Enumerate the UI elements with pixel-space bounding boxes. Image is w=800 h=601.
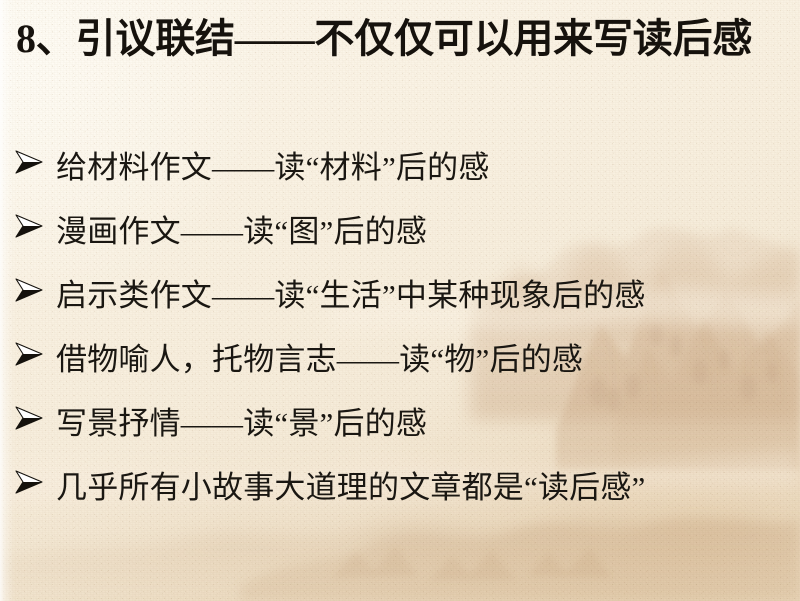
list-item: 启示类作文——读“生活”中某种现象后的感 xyxy=(14,280,800,344)
arrowhead-bullet-icon xyxy=(14,405,56,431)
list-item: 写景抒情——读“景”后的感 xyxy=(14,408,800,472)
list-item-label: 借物喻人，托物言志——读“物”后的感 xyxy=(56,344,800,375)
list-item: 几乎所有小故事大道理的文章都是“读后感” xyxy=(14,472,800,536)
arrowhead-bullet-icon xyxy=(14,341,56,367)
list-item-label: 给材料作文——读“材料”后的感 xyxy=(56,152,800,183)
slide-title: 8、引议联结——不仅仅可以用来写读后感 xyxy=(16,14,792,64)
list-item: 给材料作文——读“材料”后的感 xyxy=(14,152,800,216)
arrowhead-bullet-icon xyxy=(14,469,56,495)
list-item-label: 漫画作文——读“图”后的感 xyxy=(56,216,800,247)
list-item-label: 启示类作文——读“生活”中某种现象后的感 xyxy=(56,280,800,311)
arrowhead-bullet-icon xyxy=(14,277,56,303)
list-item-label: 几乎所有小故事大道理的文章都是“读后感” xyxy=(56,472,800,503)
slide-content: 8、引议联结——不仅仅可以用来写读后感 给材料作文——读“材料”后的感 xyxy=(0,0,800,601)
list-item: 漫画作文——读“图”后的感 xyxy=(14,216,800,280)
arrowhead-bullet-icon xyxy=(14,149,56,175)
bullet-list: 给材料作文——读“材料”后的感 漫画作文——读“图”后的感 xyxy=(14,152,800,536)
arrowhead-bullet-icon xyxy=(14,213,56,239)
list-item-label: 写景抒情——读“景”后的感 xyxy=(56,408,800,439)
list-item: 借物喻人，托物言志——读“物”后的感 xyxy=(14,344,800,408)
presentation-slide: 8、引议联结——不仅仅可以用来写读后感 给材料作文——读“材料”后的感 xyxy=(0,0,800,601)
